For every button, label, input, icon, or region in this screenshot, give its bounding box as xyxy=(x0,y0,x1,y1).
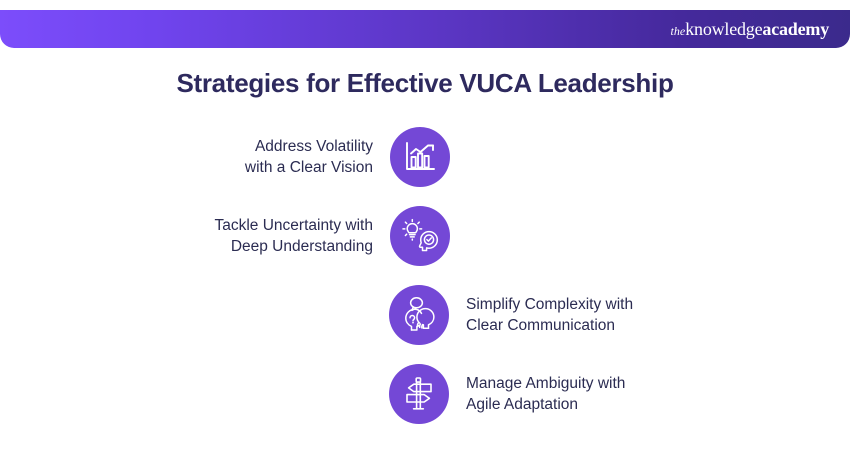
two-heads-conversation-icon xyxy=(399,295,439,335)
strategy-item-4-icon-circle xyxy=(389,364,449,424)
strategy-item-3-icon-circle xyxy=(389,285,449,345)
bar-chart-growth-icon xyxy=(402,139,438,175)
strategy-item-2-icon-circle xyxy=(390,206,450,266)
strategy-item-1-icon-circle xyxy=(390,127,450,187)
strategy-item-3: Simplify Complexity with Clear Communica… xyxy=(389,285,633,345)
header-bar: theknowledgeacademy xyxy=(0,10,850,48)
strategy-item-4-label: Manage Ambiguity with Agile Adaptation xyxy=(466,373,625,415)
logo-the: the xyxy=(671,24,686,38)
strategy-item-1-label: Address Volatility with a Clear Vision xyxy=(245,136,373,178)
strategy-item-2: Tackle Uncertainty with Deep Understandi… xyxy=(0,206,450,266)
logo-knowledge: knowledge xyxy=(685,19,762,39)
signpost-directions-icon xyxy=(400,375,438,413)
strategy-item-2-label: Tackle Uncertainty with Deep Understandi… xyxy=(214,215,373,257)
page-title: Strategies for Effective VUCA Leadership xyxy=(0,68,850,99)
infographic-page: theknowledgeacademy Strategies for Effec… xyxy=(0,0,850,450)
logo-academy: academy xyxy=(762,19,829,39)
brand-logo: theknowledgeacademy xyxy=(671,20,829,38)
lightbulb-head-check-icon xyxy=(401,217,439,255)
strategy-item-1: Address Volatility with a Clear Vision xyxy=(0,127,450,187)
strategy-item-4: Manage Ambiguity with Agile Adaptation xyxy=(389,364,625,424)
strategy-item-3-label: Simplify Complexity with Clear Communica… xyxy=(466,294,633,336)
